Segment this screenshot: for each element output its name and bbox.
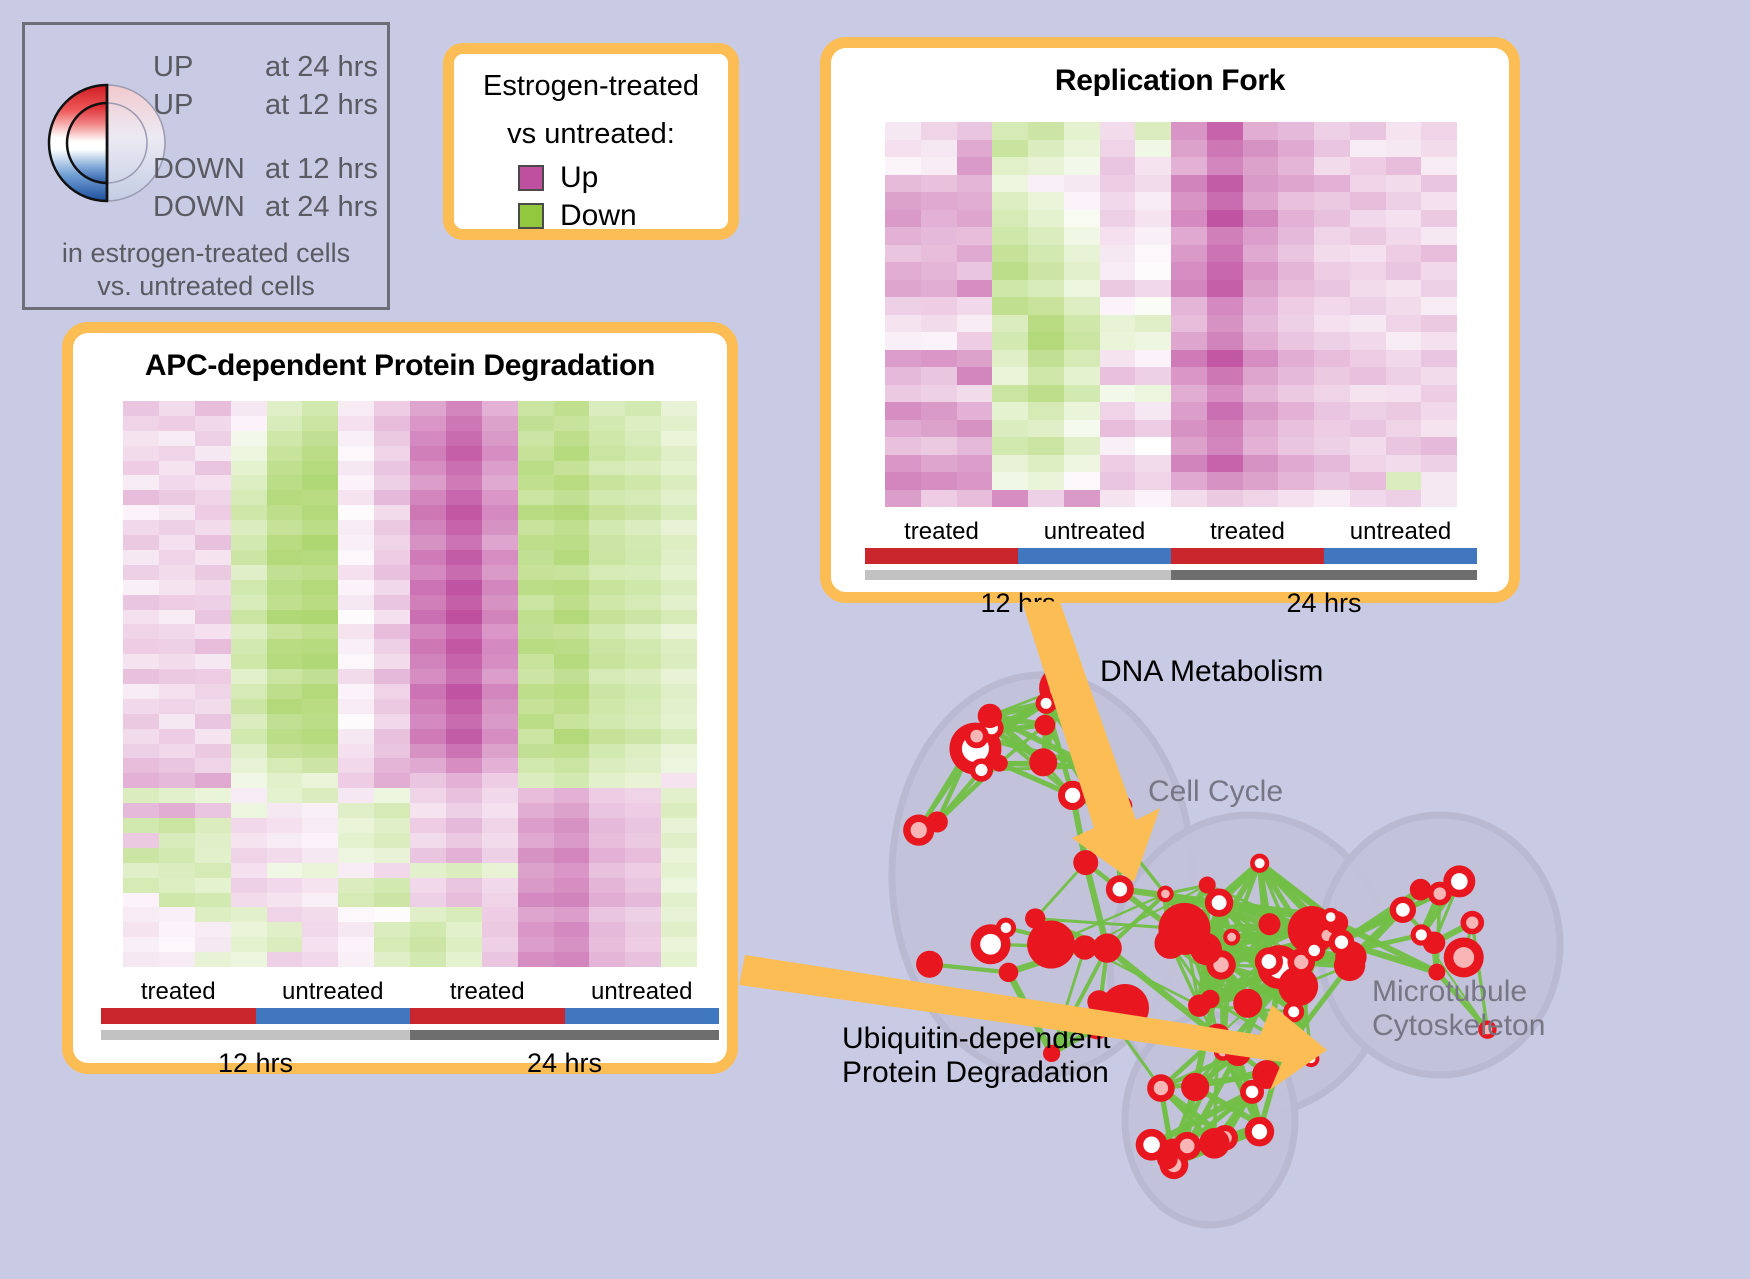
- legend-caption-line1: in estrogen-treated cells: [25, 237, 387, 270]
- heatmap-cell: [1207, 420, 1243, 438]
- heatmap-cell: [267, 550, 303, 565]
- heatmap-cell: [589, 461, 625, 476]
- heatmap-cell: [1028, 420, 1064, 438]
- heatmap-cell: [625, 580, 661, 595]
- heatmap-cell: [482, 401, 518, 416]
- heatmap-cell: [1064, 350, 1100, 368]
- key-item-down: Down: [518, 197, 728, 235]
- heatmap-cell: [123, 446, 159, 461]
- heatmap-cell: [410, 610, 446, 625]
- heatmap-cell: [661, 550, 697, 565]
- legend-time: at 12 hrs: [265, 89, 378, 122]
- heatmap-cell: [302, 431, 338, 446]
- heatmap-cell: [374, 416, 410, 431]
- heatmap-cell: [374, 401, 410, 416]
- heatmap-cell: [1100, 420, 1136, 438]
- heatmap-cell: [410, 565, 446, 580]
- heatmap-cell: [1135, 437, 1171, 455]
- heatmap-cell: [302, 937, 338, 952]
- heatmap-cell: [957, 437, 993, 455]
- heatmap-cell: [1386, 420, 1422, 438]
- network-node: [1181, 1073, 1209, 1101]
- heatmap-cell: [231, 624, 267, 639]
- heatmap-cell: [231, 699, 267, 714]
- network-node-core: [970, 730, 983, 743]
- heatmap-cell: [1243, 297, 1279, 315]
- heatmap-cell: [921, 192, 957, 210]
- heatmap-cell: [992, 472, 1028, 490]
- heatmap-cell: [374, 505, 410, 520]
- replication-fork-card: Replication Fork treated untreated treat…: [820, 37, 1520, 603]
- heatmap-cell: [589, 490, 625, 505]
- network-node: [1205, 1024, 1231, 1050]
- heatmap-cell: [446, 788, 482, 803]
- network-node: [1410, 879, 1432, 901]
- heatmap-cell: [159, 848, 195, 863]
- heatmap-cell: [302, 535, 338, 550]
- heatmap-cell: [554, 758, 590, 773]
- heatmap-cell: [374, 833, 410, 848]
- heatmap-cell: [1171, 385, 1207, 403]
- heatmap-cell: [518, 669, 554, 684]
- heatmap-cell: [589, 580, 625, 595]
- heatmap-cell: [374, 893, 410, 908]
- heatmap-cell: [625, 893, 661, 908]
- heatmap-cell: [446, 669, 482, 684]
- heatmap-cell: [482, 833, 518, 848]
- heatmap-cell: [992, 350, 1028, 368]
- heatmap-cell: [231, 550, 267, 565]
- heatmap-cell: [625, 654, 661, 669]
- heatmap-cell: [885, 175, 921, 193]
- heatmap-cell: [921, 297, 957, 315]
- heatmap-cell: [123, 595, 159, 610]
- heatmap-cell: [661, 848, 697, 863]
- heatmap-cell: [957, 297, 993, 315]
- heatmap-cell: [267, 565, 303, 580]
- heatmap-cell: [921, 245, 957, 263]
- network-node: [1201, 990, 1220, 1009]
- heatmap-cell: [1135, 210, 1171, 228]
- heatmap-cell: [159, 863, 195, 878]
- heatmap-cell: [302, 952, 338, 967]
- heatmap-cell: [554, 937, 590, 952]
- heatmap-cell: [123, 505, 159, 520]
- network-node: [1073, 935, 1097, 959]
- heatmap-cell: [338, 758, 374, 773]
- heatmap-cell: [410, 490, 446, 505]
- heatmap-cell: [446, 505, 482, 520]
- heatmap-cell: [1421, 472, 1457, 490]
- heatmap-cell: [195, 878, 231, 893]
- network-node-core: [1180, 1139, 1195, 1154]
- heatmap-cell: [338, 893, 374, 908]
- heatmap-cell: [625, 490, 661, 505]
- heatmap-cell: [625, 937, 661, 952]
- heatmap-cell: [302, 758, 338, 773]
- network-node: [991, 755, 1008, 772]
- heatmap-cell: [159, 461, 195, 476]
- heatmap-cell: [921, 455, 957, 473]
- heatmap-cell: [267, 446, 303, 461]
- heatmap-cell: [1314, 175, 1350, 193]
- heatmap-cell: [589, 893, 625, 908]
- heatmap-cell: [159, 431, 195, 446]
- heatmap-cell: [338, 773, 374, 788]
- heatmap-cell: [446, 520, 482, 535]
- heatmap-cell: [338, 446, 374, 461]
- heatmap-cell: [1207, 315, 1243, 333]
- heatmap-cell: [1243, 122, 1279, 140]
- heatmap-cell: [302, 475, 338, 490]
- heatmap-cell: [992, 157, 1028, 175]
- heatmap-cell: [1171, 157, 1207, 175]
- heatmap-cell: [374, 610, 410, 625]
- heatmap-cell: [374, 624, 410, 639]
- heatmap-cell: [589, 773, 625, 788]
- heatmap-cell: [885, 157, 921, 175]
- heatmap-cell: [554, 684, 590, 699]
- heatmap-cell: [885, 262, 921, 280]
- network-node-core: [1335, 935, 1348, 948]
- heatmap-cell: [1421, 122, 1457, 140]
- heatmap-cell: [410, 937, 446, 952]
- heatmap-cell: [518, 699, 554, 714]
- heatmap-cell: [231, 758, 267, 773]
- heatmap-cell: [1064, 140, 1100, 158]
- heatmap-cell: [554, 624, 590, 639]
- heatmap-cell: [1278, 297, 1314, 315]
- network-node-core: [1466, 916, 1478, 928]
- time-label: 12 hrs: [101, 1048, 410, 1079]
- heatmap-cell: [589, 401, 625, 416]
- legend-caption-line2: vs. untreated cells: [25, 270, 387, 303]
- heatmap-cell: [231, 669, 267, 684]
- color-wheel-legend-rows: UP at 24 hrs UP at 12 hrs DOWN at 12 hrs…: [153, 51, 393, 229]
- heatmap-cell: [1278, 157, 1314, 175]
- time-bar-segment: [101, 1030, 410, 1040]
- heatmap-cell: [1135, 227, 1171, 245]
- heatmap-cell: [267, 803, 303, 818]
- heatmap-cell: [1386, 472, 1422, 490]
- heatmap-cell: [195, 610, 231, 625]
- heatmap-cell: [1350, 332, 1386, 350]
- heatmap-cell: [1421, 280, 1457, 298]
- heatmap-cell: [625, 669, 661, 684]
- heatmap-cell: [1314, 210, 1350, 228]
- heatmap-cell: [625, 550, 661, 565]
- heatmap-cell: [1135, 280, 1171, 298]
- heatmap-cell: [1171, 402, 1207, 420]
- heatmap-cell: [231, 654, 267, 669]
- heatmap-cell: [1171, 192, 1207, 210]
- heatmap-cell: [446, 863, 482, 878]
- heatmap-cell: [554, 803, 590, 818]
- network-node-core: [1001, 922, 1012, 933]
- heatmap-cell: [1135, 315, 1171, 333]
- heatmap-cell: [374, 848, 410, 863]
- heatmap-cell: [267, 416, 303, 431]
- heatmap-cell: [661, 952, 697, 967]
- group-label: untreated: [256, 978, 411, 1006]
- heatmap-cell: [1028, 402, 1064, 420]
- heatmap-cell: [302, 833, 338, 848]
- heatmap-cell: [518, 684, 554, 699]
- network-node: [1334, 950, 1365, 981]
- heatmap-cell: [374, 490, 410, 505]
- heatmap-cell: [921, 315, 957, 333]
- heatmap-cell: [518, 431, 554, 446]
- heatmap-cell: [1100, 385, 1136, 403]
- heatmap-cell: [885, 402, 921, 420]
- heatmap-cell: [446, 461, 482, 476]
- heatmap-cell: [1314, 297, 1350, 315]
- heatmap-cell: [1421, 350, 1457, 368]
- heatmap-cell: [482, 863, 518, 878]
- heatmap-cell: [518, 788, 554, 803]
- heatmap-cell: [957, 490, 993, 508]
- heatmap-cell: [554, 535, 590, 550]
- key-title-line1: Estrogen-treated: [454, 70, 728, 102]
- heatmap-cell: [482, 535, 518, 550]
- heatmap-cell: [446, 818, 482, 833]
- heatmap-cell: [554, 833, 590, 848]
- heatmap-cell: [446, 401, 482, 416]
- heatmap-cell: [338, 610, 374, 625]
- heatmap-cell: [661, 446, 697, 461]
- heatmap-cell: [1421, 140, 1457, 158]
- network-node-core: [1453, 947, 1474, 968]
- heatmap-cell: [589, 952, 625, 967]
- heatmap-cell: [302, 461, 338, 476]
- treatment-bar-segment: [565, 1008, 720, 1024]
- heatmap-cell: [589, 505, 625, 520]
- heatmap-cell: [661, 624, 697, 639]
- heatmap-cell: [957, 350, 993, 368]
- heatmap-cell: [885, 472, 921, 490]
- heatmap-cell: [482, 610, 518, 625]
- heatmap-cell: [338, 833, 374, 848]
- heatmap-cell: [1135, 297, 1171, 315]
- heatmap-cell: [231, 803, 267, 818]
- network-node: [916, 951, 943, 978]
- network-node-core: [1099, 811, 1108, 820]
- heatmap-cell: [589, 729, 625, 744]
- heatmap-cell: [231, 505, 267, 520]
- heatmap-cell: [446, 550, 482, 565]
- heatmap-cell: [1243, 367, 1279, 385]
- heatmap-cell: [231, 610, 267, 625]
- cluster-label-line: Ubiquitin-dependent: [842, 1022, 1111, 1056]
- network-node: [999, 963, 1019, 983]
- heatmap-cell: [446, 610, 482, 625]
- heatmap-cell: [1064, 385, 1100, 403]
- heatmap-cell: [374, 788, 410, 803]
- heatmap-cell: [625, 475, 661, 490]
- heatmap-cell: [267, 505, 303, 520]
- heatmap-cell: [554, 490, 590, 505]
- heatmap-cell: [885, 350, 921, 368]
- heatmap-cell: [338, 520, 374, 535]
- heatmap-cell: [482, 758, 518, 773]
- heatmap-cell: [589, 907, 625, 922]
- group-labels: treated untreated treated untreated: [865, 518, 1477, 546]
- heatmap-cell: [159, 788, 195, 803]
- network-node-core: [911, 822, 927, 838]
- heatmap-cell: [518, 416, 554, 431]
- heatmap-cell: [123, 565, 159, 580]
- heatmap-cell: [1243, 245, 1279, 263]
- heatmap-cell: [1386, 385, 1422, 403]
- heatmap-cell: [302, 744, 338, 759]
- heatmap-cell: [1064, 490, 1100, 508]
- cluster-label-ubiquitin-degradation: Ubiquitin-dependent Protein Degradation: [842, 1022, 1111, 1090]
- heatmap-cell: [123, 714, 159, 729]
- heatmap-cell: [195, 639, 231, 654]
- heatmap-cell: [123, 744, 159, 759]
- heatmap-cell: [338, 490, 374, 505]
- heatmap-cell: [446, 580, 482, 595]
- heatmap-cell: [123, 550, 159, 565]
- heatmap-cell: [195, 520, 231, 535]
- heatmap-cell: [195, 580, 231, 595]
- heatmap-cell: [885, 367, 921, 385]
- heatmap-cell: [195, 401, 231, 416]
- heatmap-cell: [482, 505, 518, 520]
- heatmap-cell: [159, 520, 195, 535]
- heatmap-cell: [992, 437, 1028, 455]
- legend-direction: UP: [153, 51, 265, 84]
- heatmap-cell: [267, 878, 303, 893]
- heatmap-cell: [159, 773, 195, 788]
- heatmap-cell: [625, 684, 661, 699]
- network-node-core: [1143, 1136, 1160, 1153]
- heatmap-cell: [482, 490, 518, 505]
- heatmap-cell: [1350, 437, 1386, 455]
- heatmap-cell: [1100, 210, 1136, 228]
- heatmap-cell: [921, 437, 957, 455]
- heatmap-cell: [482, 580, 518, 595]
- heatmap-cell: [1386, 157, 1422, 175]
- heatmap-cell: [1064, 280, 1100, 298]
- network-node: [1078, 752, 1107, 781]
- heatmap-cell: [1421, 175, 1457, 193]
- heatmap-cell: [518, 878, 554, 893]
- heatmap-cell: [338, 431, 374, 446]
- network-node-core: [1252, 1124, 1267, 1139]
- heatmap-cell: [302, 893, 338, 908]
- heatmap-cell: [231, 416, 267, 431]
- heatmap-cell: [195, 669, 231, 684]
- heatmap-cell: [159, 803, 195, 818]
- heatmap-cell: [302, 729, 338, 744]
- heatmap-cell: [518, 565, 554, 580]
- heatmap-cell: [1207, 297, 1243, 315]
- heatmap-cell: [1243, 315, 1279, 333]
- heatmap-cell: [661, 833, 697, 848]
- heatmap-cell: [518, 744, 554, 759]
- heatmap-cell: [885, 455, 921, 473]
- heatmap-cell: [302, 610, 338, 625]
- network-node-core: [980, 934, 1001, 955]
- heatmap-cell: [1278, 245, 1314, 263]
- heatmap-cell: [625, 922, 661, 937]
- heatmap-cell: [195, 922, 231, 937]
- network-node-core: [1288, 1006, 1299, 1017]
- heatmap-cell: [374, 669, 410, 684]
- heatmap-cell: [1135, 332, 1171, 350]
- heatmap-cell: [992, 315, 1028, 333]
- heatmap-cell: [159, 937, 195, 952]
- heatmap-cell: [338, 505, 374, 520]
- heatmap-cell: [1243, 385, 1279, 403]
- group-label: treated: [1171, 518, 1324, 546]
- heatmap-cell: [589, 416, 625, 431]
- heatmap-cell: [1064, 402, 1100, 420]
- treatment-bar-segment: [1324, 548, 1477, 564]
- heatmap-cell: [921, 350, 957, 368]
- heatmap-cell: [338, 729, 374, 744]
- heatmap-cell: [446, 565, 482, 580]
- heatmap-cell: [374, 714, 410, 729]
- heatmap-cell: [1171, 175, 1207, 193]
- heatmap-cell: [589, 818, 625, 833]
- heatmap-cell: [992, 140, 1028, 158]
- heatmap-cell: [159, 833, 195, 848]
- heatmap-cell: [302, 878, 338, 893]
- heatmap-cell: [374, 520, 410, 535]
- heatmap-cell: [338, 937, 374, 952]
- heatmap-cell: [1135, 385, 1171, 403]
- heatmap-cell: [374, 937, 410, 952]
- heatmap-cell: [661, 744, 697, 759]
- heatmap-cell: [123, 684, 159, 699]
- heatmap-cell: [589, 937, 625, 952]
- heatmap-cell: [1314, 245, 1350, 263]
- group-labels: treated untreated treated untreated: [101, 978, 719, 1006]
- heatmap-cell: [159, 669, 195, 684]
- heatmap-cell: [518, 922, 554, 937]
- legend-spacer: [153, 127, 393, 153]
- heatmap-cell: [267, 520, 303, 535]
- heatmap-cell: [267, 684, 303, 699]
- heatmap-cell: [1421, 262, 1457, 280]
- heatmap-cell: [625, 758, 661, 773]
- heatmap-cell: [123, 952, 159, 967]
- heatmap-cell: [195, 848, 231, 863]
- heatmap-cell: [410, 863, 446, 878]
- heatmap-cell: [267, 848, 303, 863]
- heatmap-cell: [885, 332, 921, 350]
- heatmap-cell: [518, 639, 554, 654]
- heatmap-cell: [1386, 437, 1422, 455]
- heatmap-cell: [1386, 227, 1422, 245]
- heatmap-cell: [1314, 490, 1350, 508]
- heatmap-cell: [957, 402, 993, 420]
- heatmap-cell: [1064, 367, 1100, 385]
- network-node-core: [1113, 817, 1123, 827]
- treatment-bar-segment: [410, 1008, 565, 1024]
- heatmap-cell: [554, 416, 590, 431]
- heatmap-cell: [518, 833, 554, 848]
- heatmap-cell: [661, 937, 697, 952]
- heatmap-cell: [374, 878, 410, 893]
- heatmap-cell: [554, 818, 590, 833]
- heatmap-cell: [1100, 315, 1136, 333]
- heatmap-cell: [661, 729, 697, 744]
- network-node-core: [1246, 1086, 1258, 1098]
- heatmap-cell: [482, 803, 518, 818]
